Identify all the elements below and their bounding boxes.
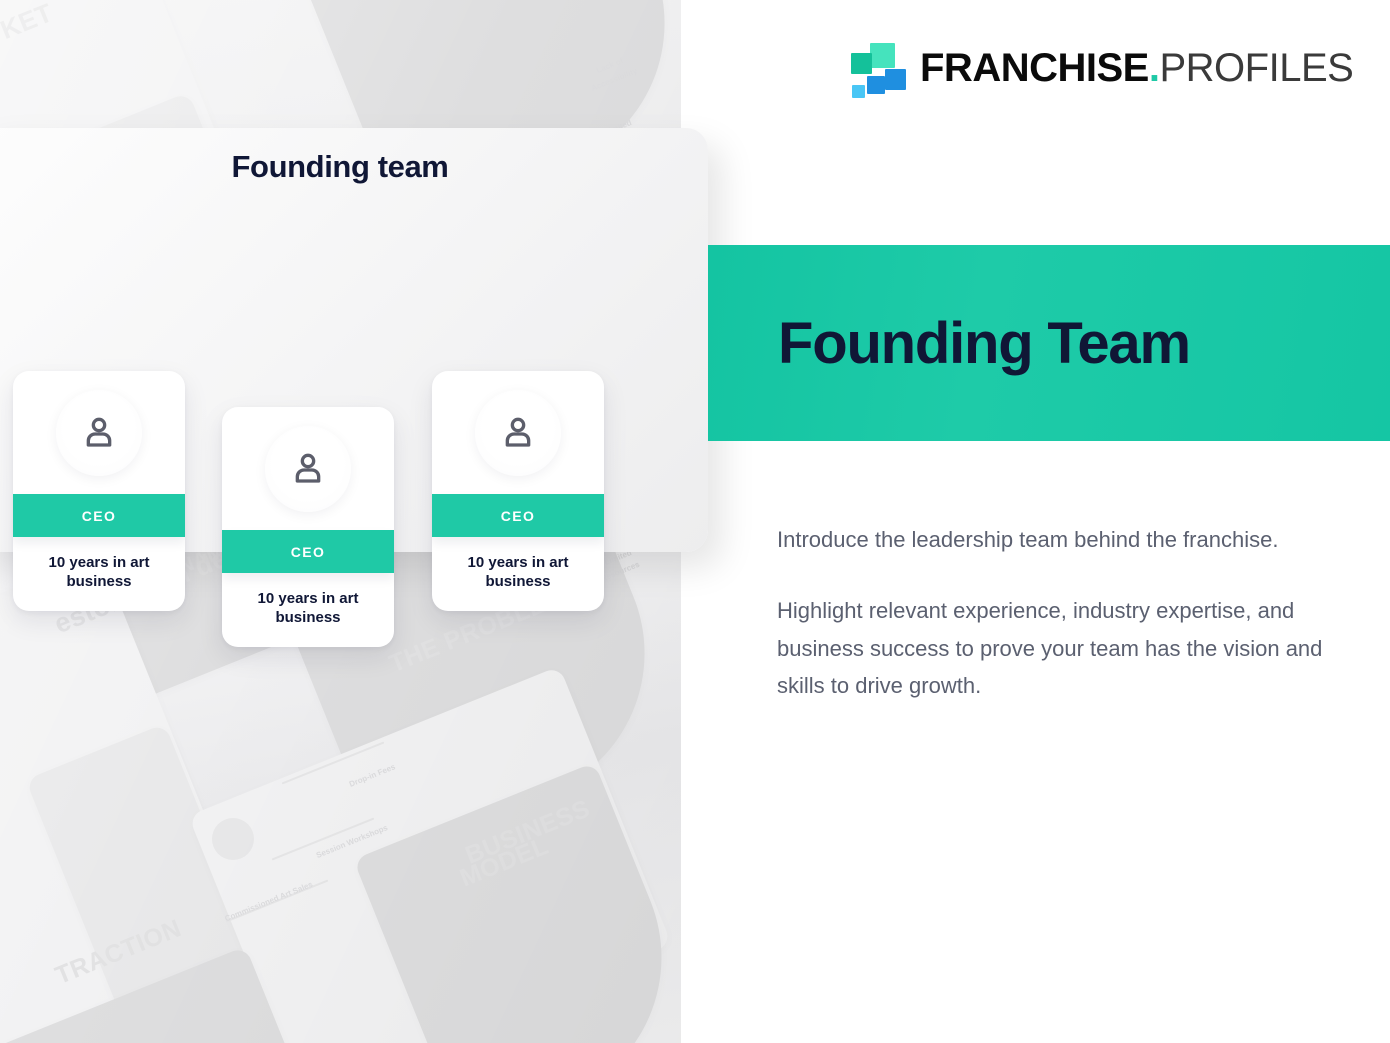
deck-decor-line <box>282 741 385 784</box>
brand-logo[interactable]: FRANCHISE.PROFILES <box>850 40 1353 96</box>
deck-slide <box>0 553 257 1043</box>
member-role-badge: CEO <box>222 530 394 573</box>
deck-decor-line <box>272 817 375 860</box>
deck-slide <box>188 666 671 1043</box>
section-heading: Founding Team <box>778 310 1190 377</box>
slide-preview-panel: Founding team CEO 10 years in art busine… <box>0 128 708 552</box>
deck-label: KET <box>0 0 57 46</box>
team-member-card[interactable]: CEO 10 years in art business <box>13 371 185 611</box>
logo-squares-icon <box>850 40 906 96</box>
deck-label: MODEL <box>456 832 553 894</box>
section-description: Introduce the leadership team behind the… <box>777 521 1342 705</box>
person-icon <box>288 449 328 489</box>
logo-wordmark: FRANCHISE.PROFILES <box>920 48 1353 88</box>
description-paragraph-1: Introduce the leadership team behind the… <box>777 521 1342 559</box>
avatar <box>432 371 604 494</box>
deck-decor-line <box>226 879 329 922</box>
deck-slide <box>353 762 681 1043</box>
member-role-badge: CEO <box>13 494 185 537</box>
member-role-badge: CEO <box>432 494 604 537</box>
deck-decor-circle <box>212 818 254 860</box>
logo-square-blue-large <box>885 69 906 90</box>
logo-word-franchise: FRANCHISE <box>920 46 1149 90</box>
avatar <box>13 371 185 494</box>
section-banner: Founding Team <box>708 245 1390 441</box>
member-description: 10 years in art business <box>13 537 185 611</box>
logo-square-cyan <box>852 85 865 98</box>
logo-dot: . <box>1149 46 1160 90</box>
logo-square-teal-dark <box>851 53 872 74</box>
slide-preview-title: Founding team <box>180 149 500 185</box>
deck-label: BUSINESS <box>461 794 594 870</box>
description-paragraph-2: Highlight relevant experience, industry … <box>777 592 1342 705</box>
logo-square-blue-small <box>867 76 885 94</box>
team-member-card[interactable]: CEO 10 years in art business <box>432 371 604 611</box>
deck-slide <box>0 946 373 1043</box>
person-icon <box>79 413 119 453</box>
avatar <box>222 407 394 530</box>
deck-small-label: Lack of <box>595 55 625 77</box>
logo-square-teal-light <box>870 43 895 68</box>
logo-word-profiles: PROFILES <box>1159 46 1353 90</box>
avatar-disc <box>475 390 561 476</box>
deck-slide <box>26 724 285 1043</box>
deck-small-label: Session Workshops <box>315 822 390 862</box>
deck-label: TRACTION <box>51 914 185 991</box>
member-description: 10 years in art business <box>432 537 604 611</box>
member-description: 10 years in art business <box>222 573 394 647</box>
deck-small-label: Commissioned Art Sales <box>223 879 315 925</box>
deck-small-label: Accessibility <box>590 65 640 94</box>
deck-small-label: Resources <box>599 559 641 585</box>
deck-small-label: Drop-in Fees <box>348 761 398 790</box>
avatar-disc <box>265 426 351 512</box>
team-member-card[interactable]: CEO 10 years in art business <box>222 407 394 647</box>
person-icon <box>498 413 538 453</box>
avatar-disc <box>56 390 142 476</box>
